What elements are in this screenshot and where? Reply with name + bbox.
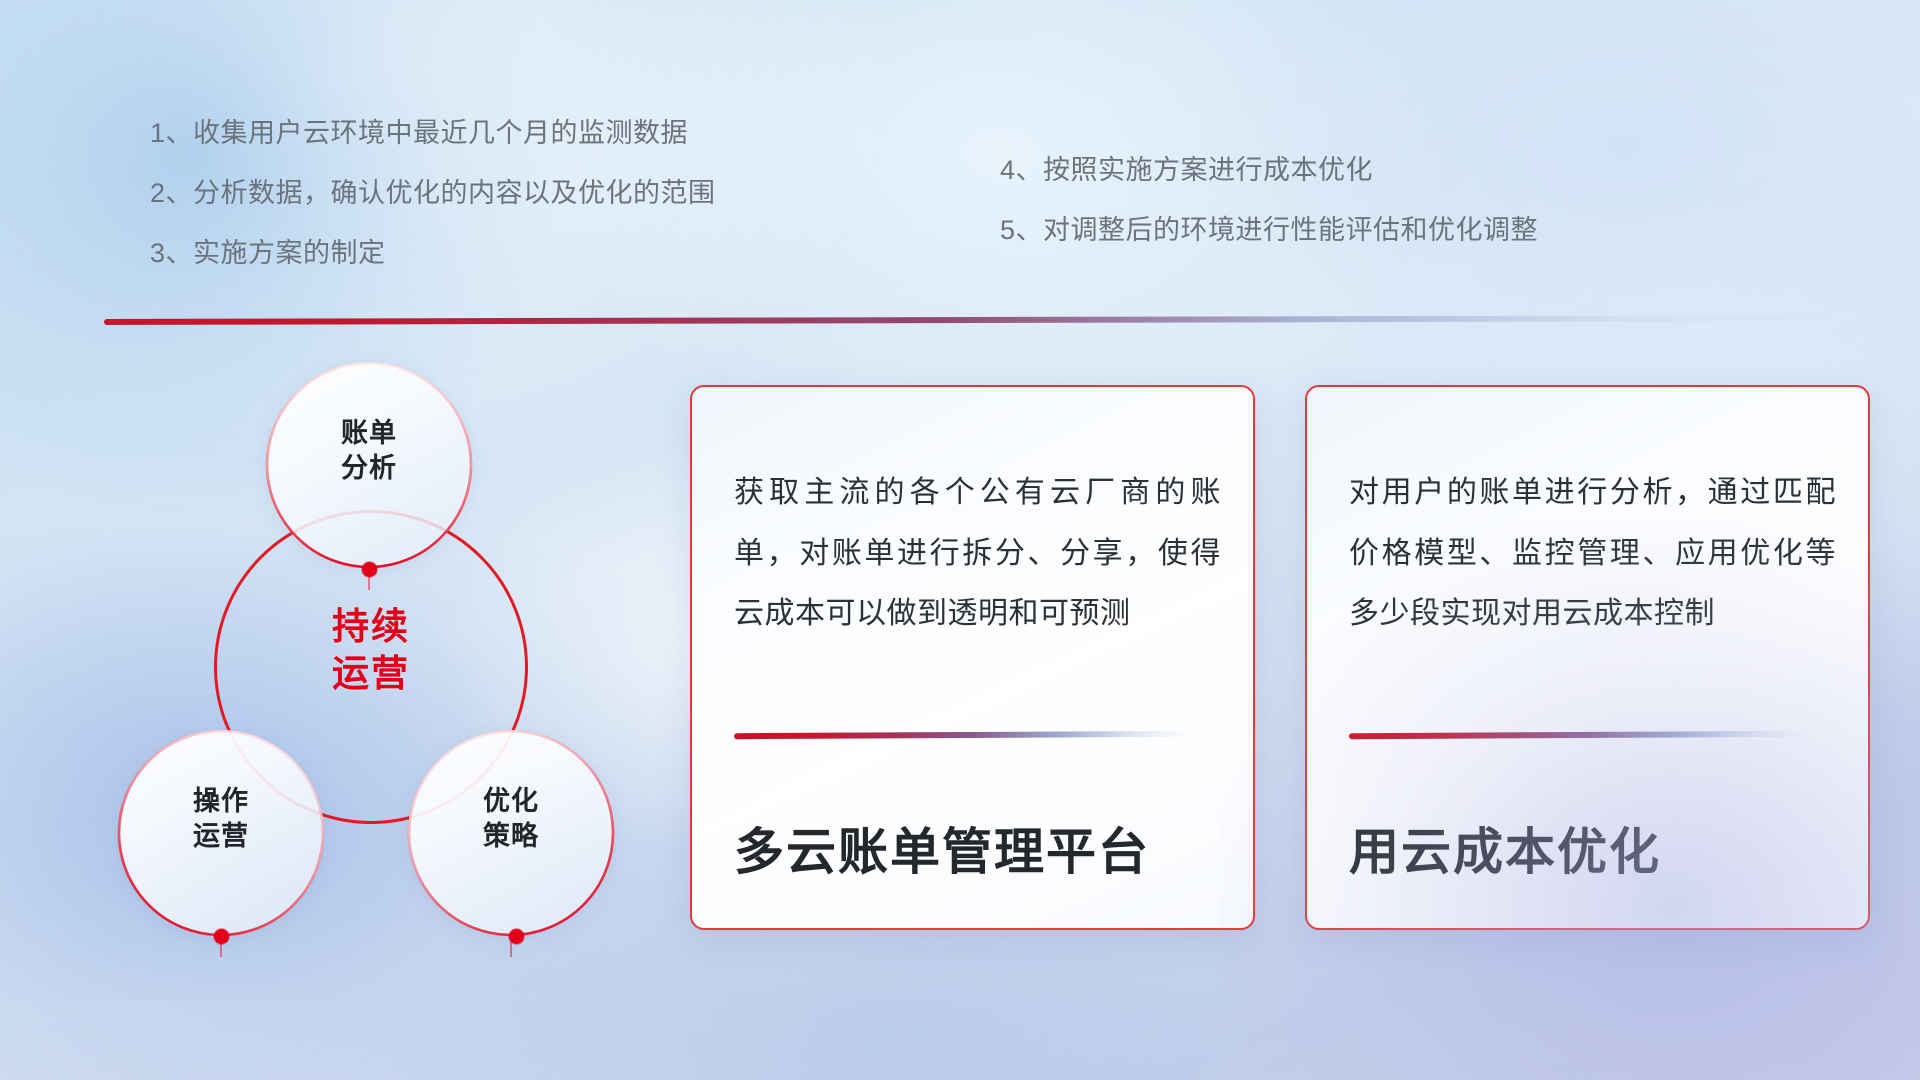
node-label-line-1: 操作 — [118, 784, 324, 819]
card-multi-cloud-billing-platform[interactable]: 获取主流的各个公有云厂商的账单，对账单进行拆分、分享，使得云成本可以做到透明和可… — [690, 385, 1255, 930]
node-label-bill-analysis: 账单 分析 — [266, 416, 472, 486]
junction-dot-bottom-right — [509, 929, 524, 944]
node-label-line-2: 运营 — [118, 819, 324, 854]
step-item-2: 2、分析数据，确认优化的内容以及优化的范围 — [150, 180, 716, 207]
step-item-4: 4、按照实施方案进行成本优化 — [1000, 157, 1538, 184]
node-label-operations: 操作 运营 — [118, 784, 324, 854]
card-body-text: 获取主流的各个公有云厂商的账单，对账单进行拆分、分享，使得云成本可以做到透明和可… — [734, 463, 1221, 645]
steps-right-column: 4、按照实施方案进行成本优化 5、对调整后的环境进行性能评估和优化调整 — [1000, 157, 1538, 244]
step-item-5: 5、对调整后的环境进行性能评估和优化调整 — [1000, 217, 1538, 244]
diagram-center-label: 持续 运营 — [214, 603, 528, 698]
card-divider-rule — [734, 731, 1194, 739]
node-label-line-1: 账单 — [266, 416, 472, 451]
card-title: 多云账单管理平台 — [734, 812, 1150, 884]
junction-dot-top — [362, 562, 377, 577]
slide-canvas: 1、收集用户云环境中最近几个月的监测数据 2、分析数据，确认优化的内容以及优化的… — [0, 0, 1920, 1080]
card-divider-rule — [1349, 731, 1809, 739]
node-label-line-2: 策略 — [408, 819, 614, 854]
junction-dot-bottom-left — [214, 929, 229, 944]
node-label-line-2: 分析 — [266, 451, 472, 486]
node-label-line-1: 优化 — [408, 784, 614, 819]
section-divider-rule — [104, 315, 1844, 325]
card-title: 用云成本优化 — [1349, 812, 1661, 884]
step-item-3: 3、实施方案的制定 — [150, 240, 716, 267]
continuous-operation-diagram: 账单 分析 操作 运营 优化 策略 持续 运营 — [90, 340, 650, 960]
card-body-text: 对用户的账单进行分析，通过匹配价格模型、监控管理、应用优化等多少段实现对用云成本… — [1349, 463, 1836, 645]
steps-left-column: 1、收集用户云环境中最近几个月的监测数据 2、分析数据，确认优化的内容以及优化的… — [150, 120, 716, 267]
center-label-line-2: 运营 — [214, 650, 528, 697]
center-label-line-1: 持续 — [214, 603, 528, 650]
step-item-1: 1、收集用户云环境中最近几个月的监测数据 — [150, 120, 716, 147]
card-cloud-cost-optimization[interactable]: 对用户的账单进行分析，通过匹配价格模型、监控管理、应用优化等多少段实现对用云成本… — [1305, 385, 1870, 930]
node-label-optimize-strategy: 优化 策略 — [408, 784, 614, 854]
